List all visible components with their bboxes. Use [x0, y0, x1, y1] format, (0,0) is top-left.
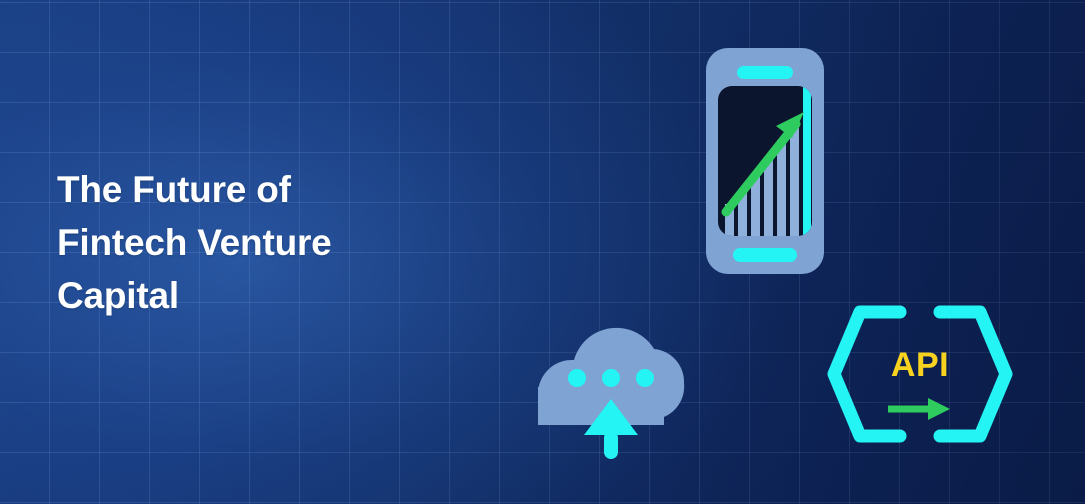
smartphone-growth-chart-icon — [706, 48, 824, 274]
phone-home-pill — [733, 248, 797, 262]
phone-screen — [718, 86, 812, 236]
cloud-dot — [602, 369, 620, 387]
api-flow-arrow-icon — [886, 396, 954, 422]
page-title: The Future of Fintech Venture Capital — [57, 163, 332, 322]
upload-arrow-icon — [580, 397, 642, 459]
cloud-upload-icon — [528, 305, 694, 460]
growth-arrow-icon — [718, 86, 812, 236]
cloud-dot — [636, 369, 654, 387]
cloud-dot — [568, 369, 586, 387]
banner-canvas: The Future of Fintech Venture Capital — [0, 0, 1085, 504]
phone-speaker-pill — [737, 66, 793, 79]
api-label: API — [824, 346, 1016, 385]
api-hexagon-icon: API — [824, 300, 1016, 448]
